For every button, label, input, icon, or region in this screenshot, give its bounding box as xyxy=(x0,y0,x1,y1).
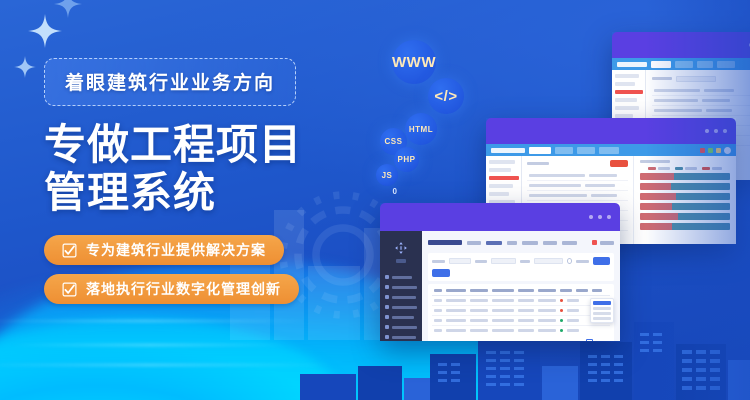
window-dot xyxy=(714,129,718,133)
nav-item[interactable] xyxy=(522,241,538,245)
status-badge xyxy=(560,299,563,302)
window-titlebar xyxy=(486,118,736,144)
app-logo xyxy=(428,240,462,245)
nav-tab[interactable] xyxy=(717,61,735,68)
table-row[interactable] xyxy=(432,326,610,335)
app-logo xyxy=(491,148,525,153)
sidebar-item[interactable] xyxy=(489,184,513,188)
user-name[interactable] xyxy=(600,241,614,245)
form-label xyxy=(652,77,672,80)
chart-bar xyxy=(640,203,730,210)
sidebar-item[interactable] xyxy=(615,82,635,86)
sidebar-item[interactable] xyxy=(615,74,639,78)
app-logo xyxy=(617,62,647,67)
notification-icon[interactable] xyxy=(592,240,597,245)
sidebar-item[interactable] xyxy=(380,322,422,332)
table-row[interactable] xyxy=(432,306,610,316)
chart-bar xyxy=(640,173,730,180)
checkbox-check-icon xyxy=(62,282,77,297)
window-dot xyxy=(607,215,611,219)
data-table xyxy=(428,284,614,341)
tech-bubble-www: WWW xyxy=(392,40,436,84)
tech-bubble-php: PHP xyxy=(394,147,419,172)
banner-stage: WWW </> HTML CSS PHP JS 0 xyxy=(0,0,750,400)
sidebar-item-active[interactable] xyxy=(615,90,643,94)
status-icon[interactable] xyxy=(708,148,713,153)
sidebar-item[interactable] xyxy=(489,192,509,196)
feature-pill-1[interactable]: 专为建筑行业提供解决方案 xyxy=(44,235,284,265)
checkbox-check-icon xyxy=(62,243,77,258)
sparkle-icon xyxy=(28,14,62,48)
subtitle-box: 着眼建筑行业业务方向 xyxy=(44,58,296,106)
table-header-row xyxy=(432,286,610,296)
tech-bubble-js: JS xyxy=(376,164,398,186)
sidebar-item[interactable] xyxy=(489,160,515,164)
chart-bar xyxy=(640,213,730,220)
status-badge xyxy=(560,319,563,322)
chart-bar xyxy=(640,183,730,190)
sparkle-icon xyxy=(54,0,82,18)
filter-panel xyxy=(428,253,614,281)
app-body xyxy=(380,231,620,341)
window-dot xyxy=(589,215,593,219)
window-dot xyxy=(705,129,709,133)
nav-tab[interactable] xyxy=(697,61,713,68)
sidebar-item[interactable] xyxy=(380,312,422,322)
nav-item-active[interactable] xyxy=(486,241,502,245)
alert-icon[interactable] xyxy=(700,148,705,153)
status-badge xyxy=(560,309,563,312)
subtitle-text: 着眼建筑行业业务方向 xyxy=(65,73,275,94)
menu-item[interactable] xyxy=(593,307,611,310)
status-badge xyxy=(560,329,563,332)
row-action-menu[interactable] xyxy=(590,298,614,323)
bell-icon[interactable] xyxy=(716,148,721,153)
pagination[interactable] xyxy=(432,339,610,341)
sidebar-item-active[interactable] xyxy=(489,176,519,180)
add-button[interactable] xyxy=(432,269,450,277)
page-number-current[interactable] xyxy=(586,339,593,341)
sparkle-icon xyxy=(14,56,36,78)
sidebar-item[interactable] xyxy=(380,292,422,302)
window-titlebar xyxy=(380,203,620,231)
menu-item[interactable] xyxy=(593,301,611,305)
search-button[interactable] xyxy=(610,160,628,167)
window-dot xyxy=(598,215,602,219)
reset-icon[interactable] xyxy=(567,258,572,264)
hero-copy: 着眼建筑行业业务方向 专做工程项目 管理系统 专为建筑行业提供解决方案 xyxy=(44,58,374,313)
table-row[interactable] xyxy=(432,296,610,306)
feature-list: 专为建筑行业提供解决方案 落地执行行业数字化管理创新 xyxy=(44,235,374,304)
sidebar-item[interactable] xyxy=(380,332,422,341)
sidebar-item[interactable] xyxy=(380,282,422,292)
nav-item[interactable] xyxy=(467,241,481,245)
headline-line-1: 专做工程项目 xyxy=(44,123,374,167)
chart-bar xyxy=(640,193,730,200)
window-dot xyxy=(723,129,727,133)
menu-item[interactable] xyxy=(593,312,611,315)
app-topnav[interactable] xyxy=(428,236,614,249)
chart-bar xyxy=(640,223,730,230)
search-button[interactable] xyxy=(593,257,610,265)
nav-item[interactable] xyxy=(507,241,517,245)
app-content xyxy=(422,231,620,341)
tech-bubble-code-icon: </> xyxy=(428,78,464,114)
form-input[interactable] xyxy=(676,76,716,82)
sidebar-item[interactable] xyxy=(615,98,637,102)
sidebar-item[interactable] xyxy=(380,272,422,282)
nav-item[interactable] xyxy=(543,241,557,245)
menu-item[interactable] xyxy=(593,317,611,320)
nav-tab[interactable] xyxy=(555,147,573,154)
feature-pill-label: 落地执行行业数字化管理创新 xyxy=(86,279,281,299)
nav-tab[interactable] xyxy=(675,61,693,68)
sidebar-item[interactable] xyxy=(380,302,422,312)
nav-tab[interactable] xyxy=(599,147,619,154)
chart-legend xyxy=(640,167,730,170)
window-titlebar xyxy=(612,32,750,58)
sidebar-item[interactable] xyxy=(615,106,639,110)
app-sidebar[interactable] xyxy=(380,231,422,341)
app-topnav[interactable] xyxy=(612,58,750,70)
feature-pill-label: 专为建筑行业提供解决方案 xyxy=(86,240,266,260)
table-row[interactable] xyxy=(432,316,610,326)
nav-item[interactable] xyxy=(562,241,577,245)
mockup-front-window[interactable] xyxy=(380,203,620,341)
sidebar-logo-icon xyxy=(380,237,422,259)
nav-tab[interactable] xyxy=(529,147,551,154)
sidebar-item[interactable] xyxy=(489,168,511,172)
chart-title xyxy=(640,160,670,163)
nav-tab[interactable] xyxy=(651,61,671,68)
page-title: 专做工程项目 管理系统 xyxy=(44,123,374,215)
app-topnav[interactable] xyxy=(486,144,736,156)
avatar[interactable] xyxy=(724,147,731,154)
headline-line-2: 管理系统 xyxy=(44,171,374,215)
feature-pill-2[interactable]: 落地执行行业数字化管理创新 xyxy=(44,274,299,304)
tech-bubble-zero: 0 xyxy=(388,184,402,198)
nav-tab[interactable] xyxy=(577,147,595,154)
tech-bubble-html: HTML xyxy=(405,113,437,145)
chart-panel xyxy=(634,156,736,244)
